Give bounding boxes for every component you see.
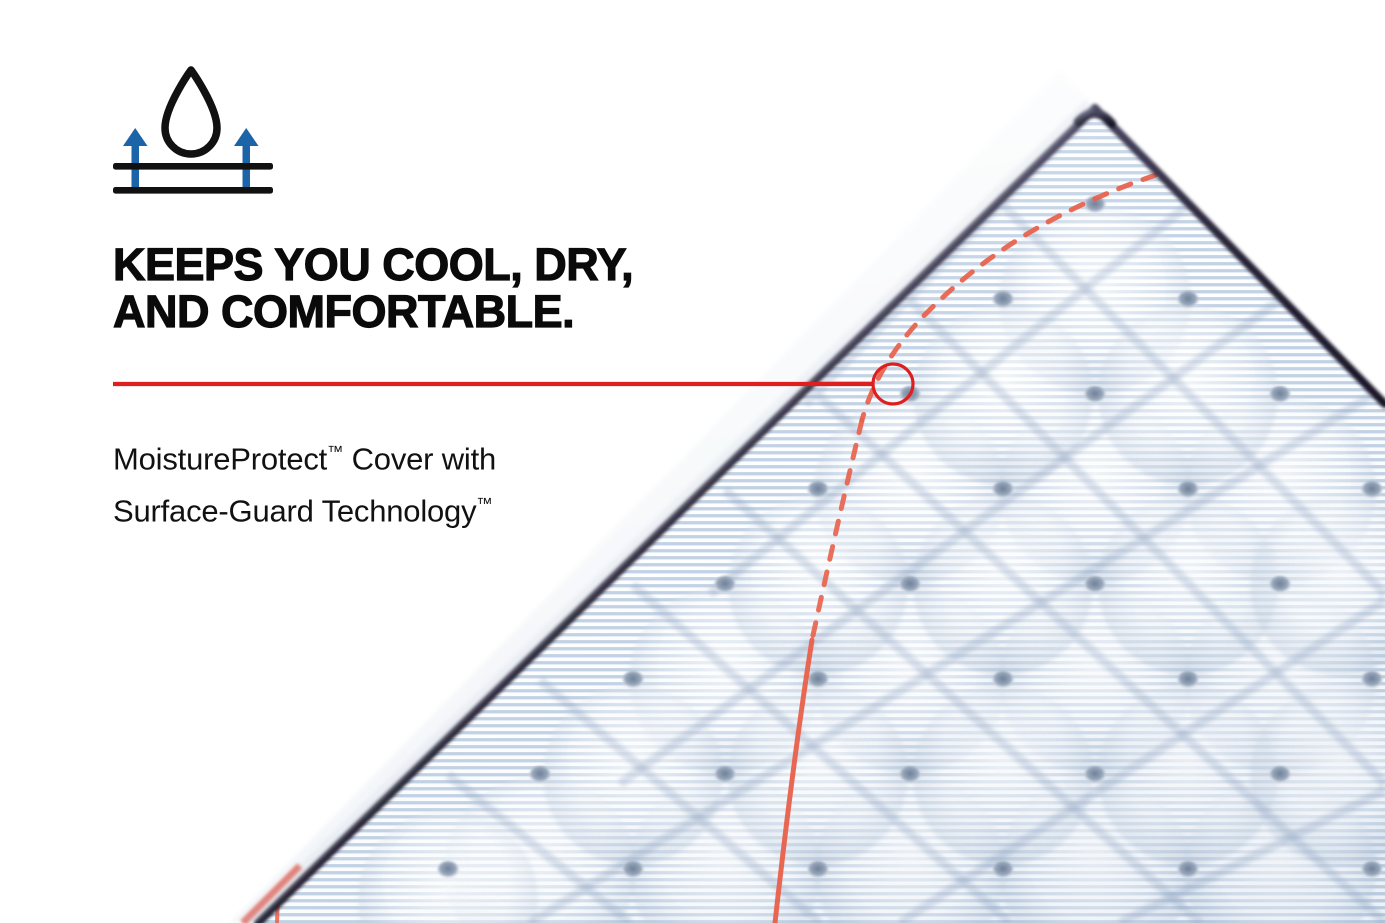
feature-description-line-2: Surface-Guard Technology™ [113, 482, 673, 534]
product-name-surface-guard: Surface-Guard Technology [113, 493, 476, 528]
trademark-symbol: ™ [327, 443, 343, 461]
headline-line-1: KEEPS YOU COOL, DRY, [113, 241, 753, 288]
trademark-symbol: ™ [476, 495, 492, 513]
surface-line-top [113, 163, 273, 170]
feature-description: MoistureProtect™ Cover with Surface-Guar… [113, 430, 673, 533]
moisture-wicking-icon [113, 58, 289, 208]
feature-description-line-1-rest: Cover with [343, 442, 496, 477]
arrow-up-icon [234, 128, 259, 188]
feature-banner: KEEPS YOU COOL, DRY, AND COMFORTABLE. Mo… [0, 0, 1385, 923]
feature-description-line-1: MoistureProtect™ Cover with [113, 430, 673, 482]
water-droplet-icon [165, 70, 217, 154]
arrow-up-icon [123, 128, 148, 188]
copy-block: KEEPS YOU COOL, DRY, AND COMFORTABLE. Mo… [113, 58, 733, 208]
headline-line-2: AND COMFORTABLE. [113, 288, 753, 335]
page-title: KEEPS YOU COOL, DRY, AND COMFORTABLE. [113, 241, 753, 335]
surface-line-bottom [113, 187, 273, 194]
product-name-moistureprotect: MoistureProtect [113, 442, 327, 477]
